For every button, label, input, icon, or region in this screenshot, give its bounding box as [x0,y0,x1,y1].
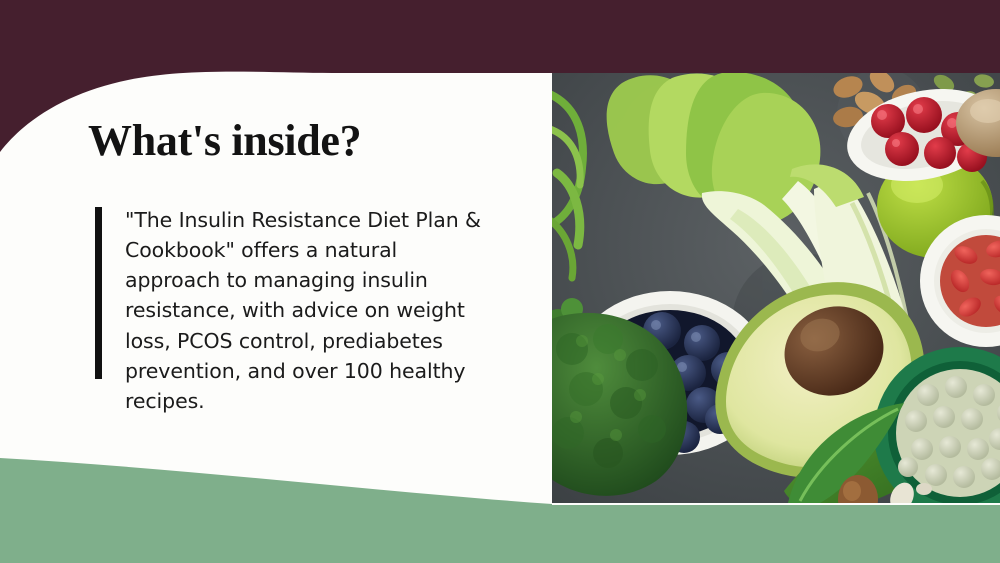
food-photo [552,73,1000,503]
page-title: What's inside? [88,118,361,164]
accent-bar [95,207,102,379]
body-paragraph: "The Insulin Resistance Diet Plan & Cook… [102,205,483,416]
text-content: What's inside? "The Insulin Resistance D… [0,0,552,563]
food-photo-illustration [552,73,1000,503]
slide-canvas: What's inside? "The Insulin Resistance D… [0,0,1000,563]
quote-block: "The Insulin Resistance Diet Plan & Cook… [95,205,495,416]
